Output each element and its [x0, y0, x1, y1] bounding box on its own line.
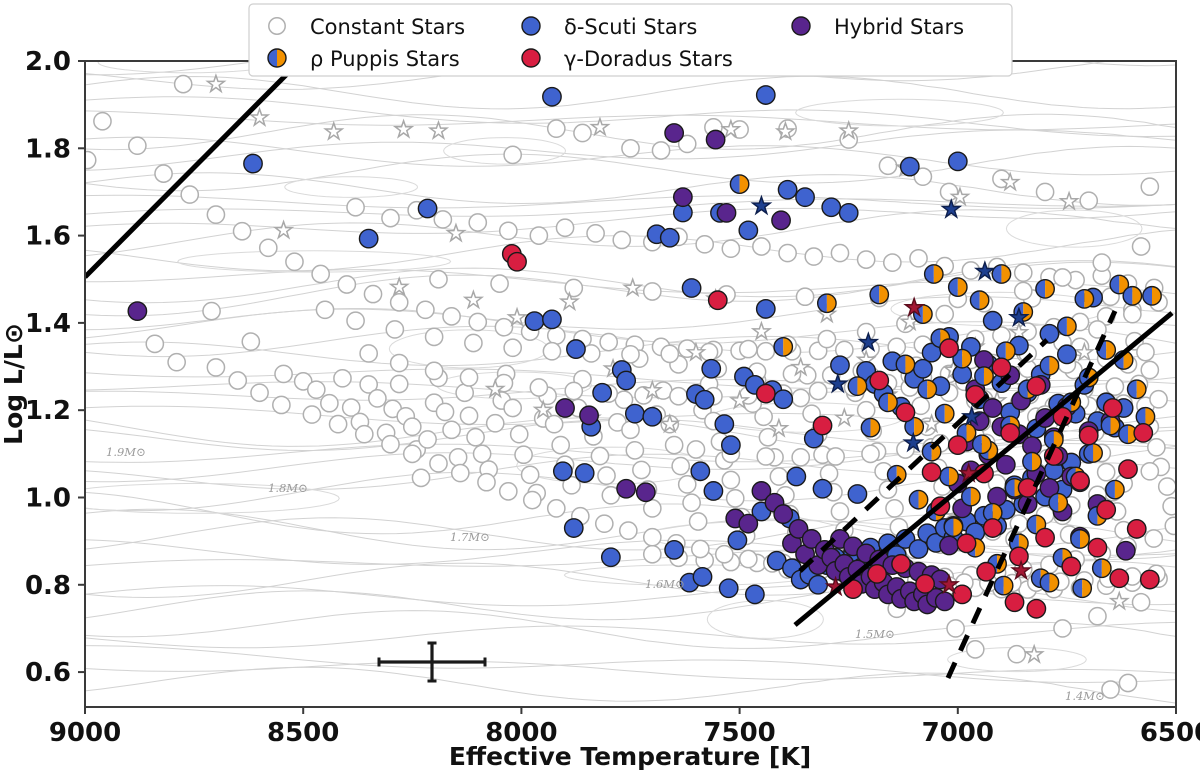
x-tick-label: 9000: [49, 718, 121, 748]
data-point-constant: [207, 359, 224, 376]
data-point: [617, 371, 635, 389]
data-point-constant: [755, 408, 772, 425]
y-tick-label: 1.2: [25, 396, 71, 426]
data-point-constant: [722, 240, 739, 257]
x-tick-label: 8500: [267, 718, 339, 748]
x-tick-label: 6500: [1140, 718, 1200, 748]
data-point: [892, 555, 910, 573]
data-point-constant: [679, 476, 696, 493]
data-point-constant: [622, 140, 639, 157]
data-point-rho-puppis: [1136, 408, 1154, 426]
data-point-constant: [452, 464, 469, 481]
data-point-constant: [884, 254, 901, 271]
data-point: [1128, 520, 1146, 538]
data-point: [722, 436, 740, 454]
data-point-constant: [886, 500, 903, 517]
data-point-constant: [260, 239, 277, 256]
data-point-constant: [1148, 439, 1165, 456]
data-point-constant: [1015, 264, 1032, 281]
data-point-constant: [168, 354, 185, 371]
y-tick-label: 1.8: [25, 134, 71, 164]
data-point: [543, 88, 561, 106]
data-point: [1027, 600, 1045, 618]
data-point: [757, 300, 775, 318]
data-point-constant: [1119, 674, 1136, 691]
data-point-constant: [515, 446, 532, 463]
mass-track-label: 1.8M⊙: [268, 481, 308, 495]
data-point: [1010, 547, 1028, 565]
data-point-rho-puppis: [949, 278, 967, 296]
data-point-constant: [391, 354, 408, 371]
y-tick-label: 0.8: [25, 571, 71, 601]
y-tick-label: 2.0: [25, 47, 71, 77]
data-point-constant: [947, 620, 964, 637]
y-axis-title: Log L/L⊙: [0, 323, 28, 445]
data-point: [848, 485, 866, 503]
data-point: [1117, 542, 1135, 560]
data-point-constant: [548, 120, 565, 137]
y-tick-label: 1.4: [25, 309, 71, 339]
data-point: [706, 130, 724, 148]
data-point-constant: [666, 437, 683, 454]
data-point-rho-puppis: [992, 265, 1010, 283]
data-point-constant: [312, 265, 329, 282]
data-point-constant: [450, 449, 467, 466]
data-point-constant: [504, 146, 521, 163]
data-point: [957, 534, 975, 552]
data-point-constant: [404, 418, 421, 435]
data-point-constant: [1106, 378, 1123, 395]
data-point-rho-puppis: [994, 576, 1012, 594]
data-point-constant: [565, 382, 582, 399]
data-point-constant: [548, 500, 565, 517]
data-point-constant: [530, 379, 547, 396]
data-point-rho-puppis: [1073, 579, 1091, 597]
data-point-constant: [633, 461, 650, 478]
data-point-constant: [598, 467, 615, 484]
data-point-constant: [692, 540, 709, 557]
data-point-constant: [644, 546, 661, 563]
data-point-constant: [469, 214, 486, 231]
data-point-constant: [716, 546, 733, 563]
data-point-constant: [670, 388, 687, 405]
data-point-constant: [548, 327, 565, 344]
legend-marker-open-circle: [269, 18, 285, 34]
data-point-constant: [696, 236, 713, 253]
data-point-rho-puppis: [848, 377, 866, 395]
data-point-constant: [426, 362, 443, 379]
data-point-constant: [286, 253, 303, 270]
data-point-constant: [683, 494, 700, 511]
data-point: [922, 463, 940, 481]
data-point-constant: [155, 165, 172, 182]
data-point-constant: [831, 503, 848, 520]
data-point-rho-puppis: [1101, 416, 1119, 434]
data-point: [953, 585, 971, 603]
data-point-constant: [500, 483, 517, 500]
data-point: [949, 152, 967, 170]
data-point-constant: [622, 346, 639, 363]
data-point-rho-puppis: [879, 393, 897, 411]
data-point-constant: [129, 137, 146, 154]
data-point-rho-puppis: [997, 342, 1015, 360]
data-point-constant: [1054, 269, 1071, 286]
data-point: [813, 416, 831, 434]
data-point: [728, 531, 746, 549]
data-point: [822, 198, 840, 216]
data-point: [757, 86, 775, 104]
data-point-constant: [530, 227, 547, 244]
data-point-constant: [146, 335, 163, 352]
data-point: [593, 384, 611, 402]
data-point-constant: [858, 251, 875, 268]
data-point-constant: [879, 157, 896, 174]
legend-marker-filled-circle: [522, 17, 540, 35]
data-point-constant: [687, 441, 704, 458]
data-point-rho-puppis: [861, 418, 879, 436]
data-point-constant: [467, 429, 484, 446]
data-point: [1088, 538, 1106, 556]
data-point-constant: [391, 294, 408, 311]
data-point: [1058, 345, 1076, 363]
data-point-constant: [330, 416, 347, 433]
data-point-constant: [522, 466, 539, 483]
data-point: [1005, 593, 1023, 611]
data-point: [525, 312, 543, 330]
data-point: [796, 188, 814, 206]
data-point-constant: [474, 445, 491, 462]
data-point: [901, 157, 919, 175]
data-point: [508, 253, 526, 271]
data-point: [702, 360, 720, 378]
data-point-constant: [391, 375, 408, 392]
data-point-rho-puppis: [1106, 480, 1124, 498]
data-point: [1119, 460, 1137, 478]
data-point-constant: [1132, 594, 1149, 611]
data-point-constant: [175, 76, 192, 93]
data-point-constant: [334, 370, 351, 387]
data-point-rho-puppis: [1075, 290, 1093, 308]
data-point-constant: [460, 407, 477, 424]
data-point-constant: [1141, 463, 1158, 480]
data-point-constant: [613, 231, 630, 248]
data-point-constant: [242, 333, 259, 350]
data-point: [940, 536, 958, 554]
data-point: [896, 403, 914, 421]
mass-track-label: 1.6M⊙: [645, 577, 685, 591]
data-point: [643, 408, 661, 426]
data-point-constant: [858, 402, 875, 419]
data-point-constant: [1089, 608, 1106, 625]
data-point: [719, 579, 737, 597]
data-point-constant: [1132, 238, 1149, 255]
data-point-constant: [805, 248, 822, 265]
data-point: [868, 565, 886, 583]
data-point: [787, 467, 805, 485]
data-point: [774, 505, 792, 523]
data-point-constant: [862, 445, 879, 462]
data-point-constant: [622, 421, 639, 438]
data-point-constant: [303, 406, 320, 423]
legend-marker-filled-circle: [522, 49, 540, 67]
data-point: [543, 310, 561, 328]
data-point-constant: [504, 339, 521, 356]
data-point-constant: [234, 223, 251, 240]
data-point-rho-puppis: [818, 294, 836, 312]
data-point-constant: [552, 437, 569, 454]
data-point: [244, 154, 262, 172]
data-point: [709, 291, 727, 309]
data-point-rho-puppis: [1143, 287, 1161, 305]
legend-marker-filled-circle: [792, 17, 810, 35]
data-point: [914, 360, 932, 378]
data-point-rho-puppis: [730, 175, 748, 193]
data-point-constant: [181, 186, 198, 203]
data-point: [695, 391, 713, 409]
data-point-constant: [587, 225, 604, 242]
data-point-constant: [500, 222, 517, 239]
x-axis-title: Effective Temperature [K]: [449, 742, 811, 771]
legend-label: δ-Scuti Stars: [564, 15, 697, 39]
data-point-constant: [661, 345, 678, 362]
data-point: [617, 480, 635, 498]
data-point-constant: [443, 421, 460, 438]
data-point-constant: [967, 641, 984, 658]
data-point: [1027, 377, 1045, 395]
data-point: [359, 229, 377, 247]
data-point-constant: [443, 308, 460, 325]
data-point-constant: [1137, 344, 1154, 361]
data-point-constant: [495, 319, 512, 336]
data-point: [739, 514, 757, 532]
data-point-constant: [753, 238, 770, 255]
data-point: [1097, 501, 1115, 519]
figure-root: 1.9M⊙1.8M⊙1.7M⊙1.6M⊙1.5M⊙1.4M⊙ 900085008…: [0, 0, 1200, 774]
data-point-constant: [487, 415, 504, 432]
data-point-rho-puppis: [1036, 280, 1054, 298]
data-point: [580, 406, 598, 424]
data-point-constant: [779, 244, 796, 261]
data-point: [717, 204, 735, 222]
data-point-constant: [1015, 282, 1032, 299]
data-point-rho-puppis: [1049, 494, 1067, 512]
data-point-constant: [620, 522, 637, 539]
data-point: [1141, 570, 1159, 588]
data-point-constant: [417, 301, 434, 318]
data-point: [988, 487, 1006, 505]
data-point-constant: [469, 313, 486, 330]
data-point-constant: [700, 344, 717, 361]
data-point: [916, 575, 934, 593]
data-point: [575, 464, 593, 482]
data-point-constant: [404, 445, 421, 462]
data-point-rho-puppis: [936, 404, 954, 422]
data-point-constant: [364, 285, 381, 302]
data-point: [1040, 325, 1058, 343]
data-point-rho-puppis: [1058, 317, 1076, 335]
data-point-constant: [347, 312, 364, 329]
data-point: [831, 356, 849, 374]
legend-label: Hybrid Stars: [834, 15, 964, 39]
data-point: [1110, 569, 1128, 587]
data-point-constant: [412, 469, 429, 486]
data-point: [418, 199, 436, 217]
data-point-constant: [690, 513, 707, 530]
data-point-constant: [962, 262, 979, 279]
data-point-rho-puppis: [1071, 530, 1089, 548]
data-point-constant: [626, 442, 643, 459]
data-point-rho-puppis: [944, 518, 962, 536]
data-point: [704, 482, 722, 500]
data-point-rho-puppis: [1093, 559, 1111, 577]
data-point-constant: [203, 303, 220, 320]
data-point: [739, 221, 757, 239]
data-point: [778, 181, 796, 199]
data-point-rho-puppis: [940, 467, 958, 485]
data-point-constant: [419, 431, 436, 448]
data-point-constant: [426, 328, 443, 345]
data-point-rho-puppis: [1128, 380, 1146, 398]
data-point: [936, 592, 954, 610]
data-point: [949, 436, 967, 454]
data-point-constant: [792, 389, 809, 406]
data-point: [665, 541, 683, 559]
data-point-constant: [369, 390, 386, 407]
data-point-constant: [430, 455, 447, 472]
data-point-constant: [491, 275, 508, 292]
data-point: [774, 390, 792, 408]
data-point-constant: [565, 279, 582, 296]
data-point-rho-puppis: [774, 338, 792, 356]
data-point-constant: [316, 301, 333, 318]
data-point-constant: [740, 340, 757, 357]
data-point-constant: [556, 219, 573, 236]
data-point-constant: [1098, 464, 1115, 481]
data-point: [128, 302, 146, 320]
legend-label: ρ Puppis Stars: [310, 47, 460, 71]
data-point-constant: [511, 426, 528, 443]
data-point-constant: [757, 448, 774, 465]
legend-label: Constant Stars: [310, 15, 465, 39]
data-point-constant: [504, 399, 521, 416]
data-point-constant: [644, 500, 661, 517]
data-point: [1134, 424, 1152, 442]
data-point: [1071, 472, 1089, 490]
data-point-constant: [434, 211, 451, 228]
data-point-constant: [382, 210, 399, 227]
data-point-rho-puppis: [970, 291, 988, 309]
data-point-constant: [338, 276, 355, 293]
x-tick-label: 7000: [922, 718, 994, 748]
chart-legend[interactable]: Constant Starsδ-Scuti StarsHybrid Starsρ…: [249, 4, 1012, 76]
data-point-rho-puppis: [1023, 452, 1041, 470]
data-point-constant: [727, 490, 744, 507]
data-point: [691, 462, 709, 480]
y-tick-label: 1.0: [25, 483, 71, 513]
data-point-constant: [456, 384, 473, 401]
data-point-constant: [1124, 306, 1141, 323]
mass-track-label: 1.5M⊙: [855, 627, 895, 641]
data-point-rho-puppis: [918, 380, 936, 398]
data-point: [715, 415, 733, 433]
data-point-constant: [1036, 183, 1053, 200]
data-point-rho-puppis: [973, 435, 991, 453]
data-point-constant: [360, 345, 377, 362]
data-point: [984, 519, 1002, 537]
data-point-constant: [94, 113, 111, 130]
data-point-constant: [770, 468, 787, 485]
data-point-constant: [818, 330, 835, 347]
data-point-constant: [910, 250, 927, 267]
data-point-rho-puppis: [1123, 287, 1141, 305]
data-point-constant: [1080, 192, 1097, 209]
data-point-rho-puppis: [975, 367, 993, 385]
data-point-constant: [757, 343, 774, 360]
data-point: [1104, 399, 1122, 417]
legend-label: γ-Doradus Stars: [564, 47, 733, 71]
data-point-constant: [524, 492, 541, 509]
data-point: [674, 188, 692, 206]
data-point-constant: [596, 515, 613, 532]
data-point-constant: [478, 474, 495, 491]
data-point-constant: [644, 529, 661, 546]
data-point-rho-puppis: [962, 487, 980, 505]
y-tick-label: 0.6: [25, 658, 71, 688]
data-point-constant: [759, 429, 776, 446]
data-point-constant: [722, 471, 739, 488]
data-point: [665, 124, 683, 142]
data-point-constant: [591, 447, 608, 464]
data-point: [840, 204, 858, 222]
data-point: [772, 211, 790, 229]
data-point: [757, 384, 775, 402]
data-point-constant: [229, 372, 246, 389]
data-point-constant: [672, 457, 689, 474]
data-point-constant: [347, 199, 364, 216]
data-point: [693, 568, 711, 586]
data-point-constant: [207, 206, 224, 223]
data-point-rho-puppis: [1084, 444, 1102, 462]
data-point-constant: [1054, 620, 1071, 637]
data-point: [977, 562, 995, 580]
data-point-constant: [321, 395, 338, 412]
data-point-constant: [275, 365, 292, 382]
data-point-rho-puppis: [1040, 356, 1058, 374]
data-point: [567, 340, 585, 358]
data-point-rho-puppis: [1040, 573, 1058, 591]
data-point-constant: [465, 334, 482, 351]
data-point-constant: [436, 403, 453, 420]
data-point-rho-puppis: [909, 490, 927, 508]
data-point: [870, 371, 888, 389]
data-point-constant: [1150, 391, 1167, 408]
mass-track-label: 1.9M⊙: [106, 445, 146, 459]
data-point: [637, 483, 655, 501]
data-point: [984, 399, 1002, 417]
data-point-constant: [1093, 254, 1110, 271]
data-point: [682, 279, 700, 297]
data-point-constant: [810, 382, 827, 399]
data-point: [1018, 479, 1036, 497]
data-point-constant: [273, 396, 290, 413]
mass-track-label: 1.4M⊙: [1065, 689, 1105, 703]
data-point-constant: [356, 426, 373, 443]
y-tick-label: 1.6: [25, 222, 71, 252]
data-point-rho-puppis: [896, 355, 914, 373]
data-point: [1062, 557, 1080, 575]
data-point-constant: [1145, 530, 1162, 547]
data-point: [813, 480, 831, 498]
